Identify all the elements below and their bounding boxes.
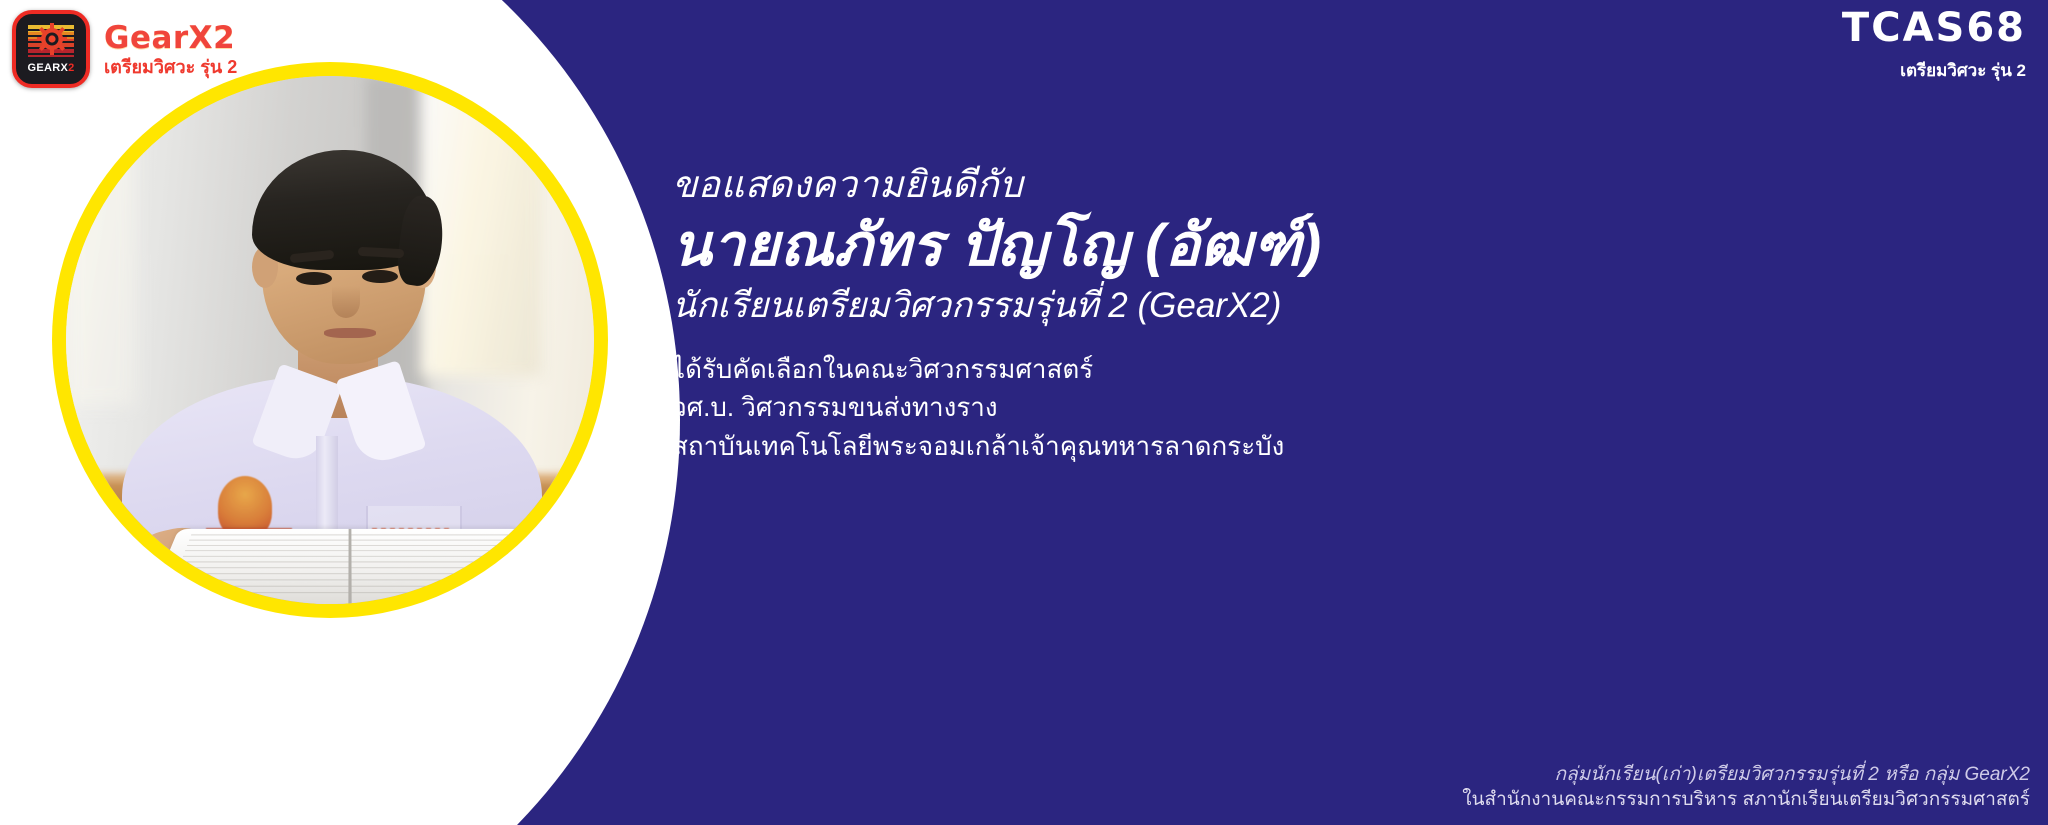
gear-icon — [37, 23, 67, 55]
brand-subtitle: เตรียมวิศวะ รุ่น 2 — [104, 58, 237, 76]
congratulations-line: ขอแสดงความยินดีกับ — [672, 162, 1322, 208]
brand-title: GearX2 — [104, 23, 237, 54]
admission-details: ได้รับคัดเลือกในคณะวิศวกรรมศาสตร์ วศ.บ. … — [672, 350, 1322, 465]
tcas-title: TCAS68 — [1842, 8, 2026, 48]
footer-credit: กลุ่มนักเรียน(เก่า)เตรียมวิศวกรรมรุ่นที่… — [1462, 762, 2030, 813]
footer-line-1: กลุ่มนักเรียน(เก่า)เตรียมวิศวกรรมรุ่นที่… — [1462, 762, 2030, 788]
gearx2-logo-badge: GEARX2 — [12, 10, 90, 88]
detail-institution: สถาบันเทคโนโลยีพระจอมเกล้าเจ้าคุณทหารลาด… — [672, 427, 1322, 465]
announcement-copy: ขอแสดงความยินดีกับ นายณภัทร ปัญโญ (อัฒฑ์… — [672, 162, 1322, 465]
student-generation: นักเรียนเตรียมวิศวกรรมรุ่นที่ 2 (GearX2) — [672, 283, 1322, 329]
student-photo-ring — [52, 62, 608, 618]
detail-program: วศ.บ. วิศวกรรมขนส่งทางราง — [672, 388, 1322, 426]
congratulations-banner: GEARX2 GearX2 เตรียมวิศวะ รุ่น 2 TCAS68 … — [0, 0, 2048, 825]
student-name: นายณภัทร ปัญโญ (อัฒฑ์) — [672, 212, 1322, 280]
tcas-heading: TCAS68 เตรียมวิศวะ รุ่น 2 — [1842, 8, 2026, 84]
gearx2-brand-lockup: GEARX2 GearX2 เตรียมวิศวะ รุ่น 2 — [12, 10, 237, 88]
gear-logo-icon — [28, 23, 74, 59]
footer-line-2: ในสำนักงานคณะกรรมการบริหาร สภานักเรียนเต… — [1462, 787, 2030, 813]
tcas-subtitle: เตรียมวิศวะ รุ่น 2 — [1842, 57, 2026, 84]
gearx2-badge-text: GEARX2 — [27, 62, 74, 74]
detail-faculty: ได้รับคัดเลือกในคณะวิศวกรรมศาสตร์ — [672, 350, 1322, 388]
student-photo — [66, 76, 594, 604]
